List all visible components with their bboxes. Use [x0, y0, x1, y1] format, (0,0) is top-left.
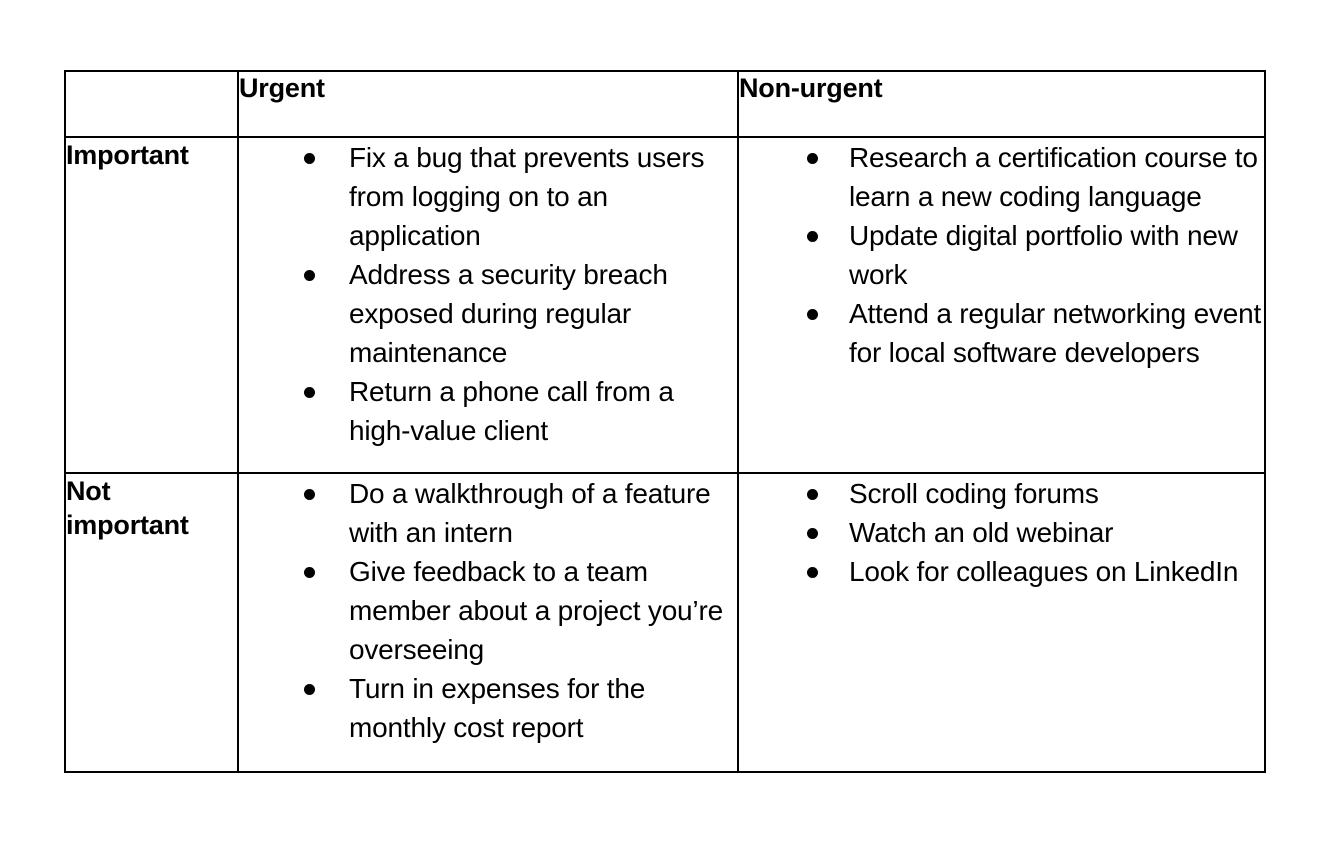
list-item: Address a security breach exposed during… — [239, 255, 737, 372]
cell-not-important-non-urgent: Scroll coding forums Watch an old webina… — [738, 473, 1265, 772]
list-item: Return a phone call from a high-value cl… — [239, 372, 737, 450]
list-item-text: Update digital portfolio with new work — [849, 220, 1238, 290]
list-item-text: Research a certification course to learn… — [849, 142, 1258, 212]
list-item-text: Return a phone call from a high-value cl… — [349, 376, 674, 446]
cell-important-urgent: Fix a bug that prevents users from loggi… — [238, 137, 738, 473]
list-item-text: Scroll coding forums — [849, 478, 1099, 509]
bullet-dot-icon — [304, 684, 315, 695]
list-item: Attend a regular networking event for lo… — [739, 294, 1264, 372]
list-item: Scroll coding forums — [739, 474, 1264, 513]
table-header-row: Urgent Non-urgent — [65, 71, 1265, 137]
bullet-list-important-non-urgent: Research a certification course to learn… — [739, 138, 1264, 372]
bullet-dot-icon — [304, 270, 315, 281]
list-item-text: Give feedback to a team member about a p… — [349, 556, 723, 665]
row-header-important-label: Important — [66, 138, 237, 172]
list-item: Look for colleagues on LinkedIn — [739, 552, 1264, 591]
list-item-text: Attend a regular networking event for lo… — [849, 298, 1261, 368]
priority-matrix-table: Urgent Non-urgent Important Fix a bug th… — [64, 70, 1266, 773]
table-row-not-important: Not important Do a walkthrough of a feat… — [65, 473, 1265, 772]
cell-important-non-urgent: Research a certification course to learn… — [738, 137, 1265, 473]
bullet-list-not-important-urgent: Do a walkthrough of a feature with an in… — [239, 474, 737, 747]
column-header-urgent-label: Urgent — [239, 72, 737, 104]
list-item: Research a certification course to learn… — [739, 138, 1264, 216]
cell-not-important-urgent: Do a walkthrough of a feature with an in… — [238, 473, 738, 772]
list-item: Give feedback to a team member about a p… — [239, 552, 737, 669]
bullet-dot-icon — [807, 489, 818, 500]
bullet-dot-icon — [807, 528, 818, 539]
bullet-dot-icon — [807, 567, 818, 578]
bullet-dot-icon — [807, 153, 818, 164]
bullet-dot-icon — [304, 387, 315, 398]
list-item-text: Do a walkthrough of a feature with an in… — [349, 478, 711, 548]
list-item: Update digital portfolio with new work — [739, 216, 1264, 294]
table-corner-cell — [65, 71, 238, 137]
bullet-list-important-urgent: Fix a bug that prevents users from loggi… — [239, 138, 737, 450]
list-item: Watch an old webinar — [739, 513, 1264, 552]
bullet-dot-icon — [304, 489, 315, 500]
list-item-text: Address a security breach exposed during… — [349, 259, 668, 368]
list-item-text: Watch an old webinar — [849, 517, 1113, 548]
table-row-important: Important Fix a bug that prevents users … — [65, 137, 1265, 473]
bullet-dot-icon — [304, 567, 315, 578]
column-header-non-urgent-label: Non-urgent — [739, 72, 1264, 104]
column-header-urgent: Urgent — [238, 71, 738, 137]
bullet-list-not-important-non-urgent: Scroll coding forums Watch an old webina… — [739, 474, 1264, 591]
column-header-non-urgent: Non-urgent — [738, 71, 1265, 137]
list-item: Do a walkthrough of a feature with an in… — [239, 474, 737, 552]
row-header-not-important-label: Not important — [66, 474, 237, 542]
page-canvas: Urgent Non-urgent Important Fix a bug th… — [0, 0, 1338, 852]
bullet-dot-icon — [807, 309, 818, 320]
bullet-dot-icon — [807, 231, 818, 242]
row-header-important: Important — [65, 137, 238, 473]
list-item: Turn in expenses for the monthly cost re… — [239, 669, 737, 747]
bullet-dot-icon — [304, 153, 315, 164]
row-header-not-important: Not important — [65, 473, 238, 772]
list-item-text: Fix a bug that prevents users from loggi… — [349, 142, 704, 251]
list-item-text: Turn in expenses for the monthly cost re… — [349, 673, 645, 743]
list-item-text: Look for colleagues on LinkedIn — [849, 556, 1238, 587]
list-item: Fix a bug that prevents users from loggi… — [239, 138, 737, 255]
